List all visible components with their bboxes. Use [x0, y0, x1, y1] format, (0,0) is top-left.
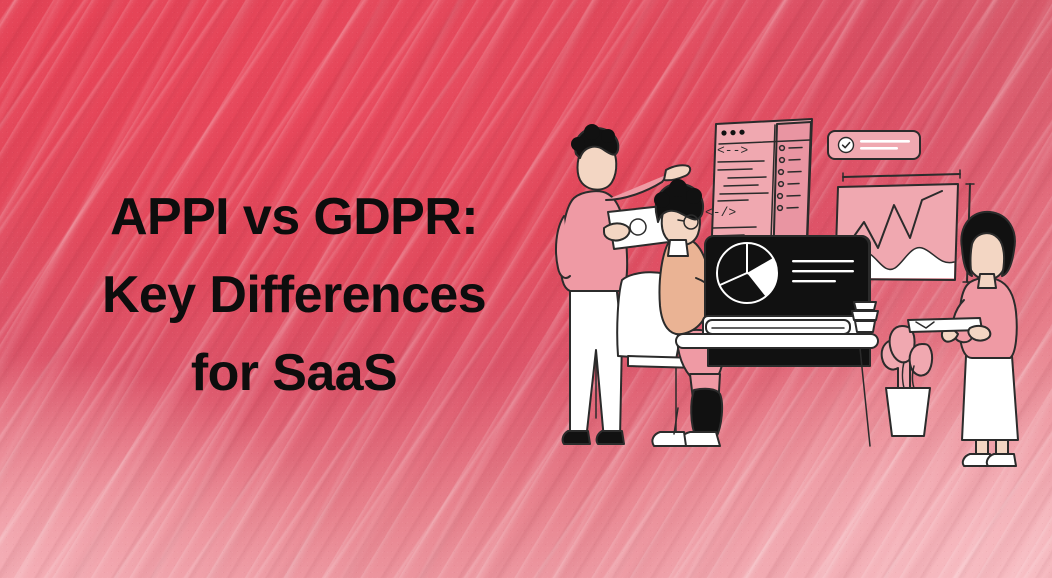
- keyboard: [706, 320, 850, 334]
- notification-card: [828, 131, 920, 159]
- title-line-1: APPI vs GDPR:: [44, 178, 544, 256]
- svg-text:<-/>: <-/>: [705, 205, 736, 220]
- page-title: APPI vs GDPR: Key Differences for SaaS: [44, 178, 544, 412]
- shoe-right: [597, 431, 624, 444]
- title-line-3: for SaaS: [44, 334, 544, 412]
- shoe-left: [563, 431, 590, 444]
- banner-image: APPI vs GDPR: Key Differences for SaaS .…: [0, 0, 1052, 578]
- code-tag-close-icon: <-/>: [705, 205, 736, 220]
- hero-illustration: .o { fill:none; stroke:#2b2b2b; stroke-w…: [530, 88, 1052, 480]
- code-tag-open-icon: <-->: [717, 143, 748, 158]
- title-line-2: Key Differences: [44, 256, 544, 334]
- coffee-cup: [852, 302, 878, 332]
- check-circle-icon: [839, 138, 854, 153]
- shoe-right-woman: [987, 454, 1016, 466]
- svg-text:<-->: <-->: [717, 143, 748, 158]
- potted-cactus: [882, 326, 932, 436]
